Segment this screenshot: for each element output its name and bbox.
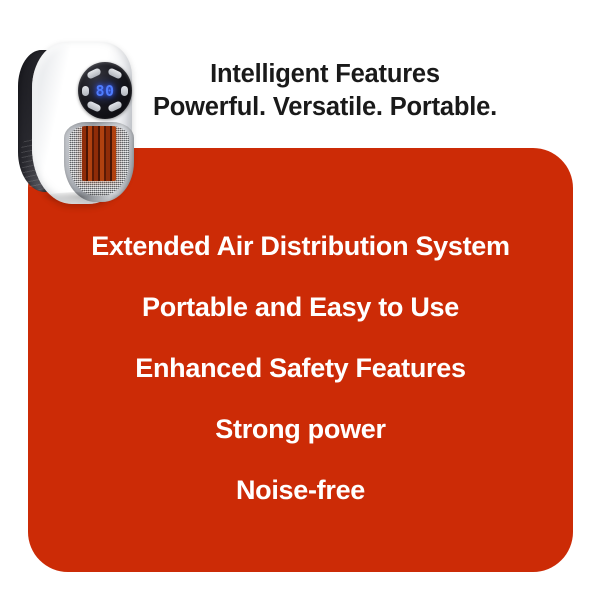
feature-list: Extended Air Distribution System Portabl…: [28, 148, 573, 572]
dial-segment-icon: [107, 67, 123, 79]
poster-heading: Intelligent Features Powerful. Versatile…: [110, 58, 540, 124]
product-feature-poster: Extended Air Distribution System Portabl…: [0, 0, 600, 607]
heater-temperature-display: 80: [78, 82, 132, 100]
feature-item: Extended Air Distribution System: [91, 229, 509, 263]
heater-grille-mesh: [69, 126, 129, 196]
heater-grille-frame: [64, 122, 134, 202]
feature-item: Noise-free: [236, 473, 365, 507]
dial-segment-icon: [107, 100, 123, 112]
dial-segment-icon: [86, 67, 102, 79]
heater-drop-shadow: [40, 192, 124, 204]
space-heater-image: 80: [16, 42, 132, 204]
heater-body: 80: [32, 42, 132, 204]
heating-element: [82, 126, 116, 181]
heading-line-2: Powerful. Versatile. Portable.: [110, 91, 540, 124]
heater-control-dial: 80: [78, 62, 132, 119]
feature-item: Enhanced Safety Features: [135, 351, 465, 385]
feature-item: Portable and Easy to Use: [142, 290, 459, 324]
dial-segment-icon: [86, 100, 102, 112]
heading-line-1: Intelligent Features: [110, 58, 540, 91]
feature-item: Strong power: [215, 412, 385, 446]
